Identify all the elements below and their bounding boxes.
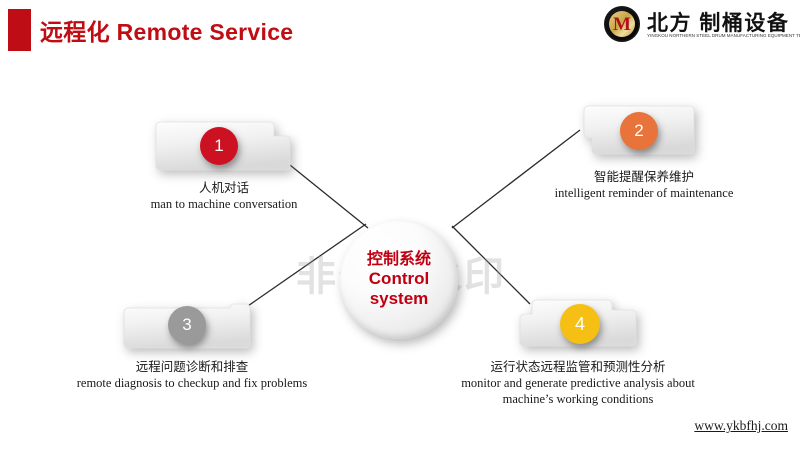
node-3-label-en: remote diagnosis to checkup and fix prob… bbox=[52, 376, 332, 392]
logo-emblem-icon: M bbox=[604, 6, 640, 42]
node-2-number: 2 bbox=[634, 121, 643, 141]
node-1-label-cn: 人机对话 bbox=[124, 181, 324, 197]
node-2-label: 智能提醒保养维护 intelligent reminder of mainten… bbox=[534, 170, 754, 202]
diagram-node-2[interactable]: 2 智能提醒保养维护 intelligent reminder of maint… bbox=[582, 104, 704, 160]
node-3-label-cn: 远程问题诊断和排查 bbox=[52, 360, 332, 376]
radial-diagram: 非公页水印 控制系统 Control system bbox=[0, 56, 800, 450]
node-4-label: 运行状态远程监管和预测性分析 monitor and generate pred… bbox=[418, 360, 738, 407]
node-2-label-en: intelligent reminder of maintenance bbox=[534, 186, 754, 202]
website-url-link[interactable]: www.ykbfhj.com bbox=[694, 418, 788, 434]
node-1-label: 人机对话 man to machine conversation bbox=[124, 181, 324, 213]
logo-emblem-ring: M bbox=[609, 11, 635, 37]
page-title: 远程化 Remote Service bbox=[40, 13, 293, 47]
company-logo: M 北方 制桶设备 YINGKOU NORTHERN STEEL DRUM MA… bbox=[600, 4, 796, 46]
center-node-text: 控制系统 Control system bbox=[340, 221, 458, 339]
slide-header: 远程化 Remote Service M 北方 制桶设备 YINGKOU NOR… bbox=[0, 0, 800, 56]
center-title-en-line2: system bbox=[370, 289, 429, 309]
node-3-card: 3 bbox=[122, 300, 254, 354]
node-4-number-badge: 4 bbox=[560, 304, 600, 344]
node-1-number: 1 bbox=[214, 136, 223, 156]
node-1-label-en: man to machine conversation bbox=[124, 197, 324, 213]
center-node-control-system[interactable]: 控制系统 Control system bbox=[340, 221, 460, 341]
diagram-node-3[interactable]: 3 远程问题诊断和排查 remote diagnosis to checkup … bbox=[122, 300, 254, 354]
center-title-cn: 控制系统 bbox=[367, 251, 431, 270]
diagram-node-4[interactable]: 4 运行状态远程监管和预测性分析 monitor and generate pr… bbox=[512, 296, 644, 354]
center-title-en-line1: Control bbox=[369, 269, 429, 289]
node-4-number: 4 bbox=[575, 314, 585, 335]
node-4-card: 4 bbox=[512, 296, 644, 354]
node-1-number-badge: 1 bbox=[200, 127, 238, 165]
node-2-card: 2 bbox=[582, 104, 704, 160]
node-1-card: 1 bbox=[152, 118, 294, 176]
node-4-label-en-line2: machine’s working conditions bbox=[418, 392, 738, 408]
logo-company-name-en: YINGKOU NORTHERN STEEL DRUM MANUFACTURIN… bbox=[647, 33, 800, 38]
node-4-label-en-line1: monitor and generate predictive analysis… bbox=[418, 376, 738, 392]
header-accent-bar bbox=[8, 9, 31, 51]
slide-canvas: 远程化 Remote Service M 北方 制桶设备 YINGKOU NOR… bbox=[0, 0, 800, 450]
node-4-label-cn: 运行状态远程监管和预测性分析 bbox=[418, 360, 738, 376]
diagram-node-1[interactable]: 1 人机对话 man to machine conversation bbox=[152, 118, 294, 176]
node-3-label: 远程问题诊断和排查 remote diagnosis to checkup an… bbox=[52, 360, 332, 392]
node-2-label-cn: 智能提醒保养维护 bbox=[534, 170, 754, 186]
node-3-number-badge: 3 bbox=[168, 306, 206, 344]
logo-emblem-letter: M bbox=[613, 15, 631, 34]
node-3-number: 3 bbox=[182, 315, 191, 335]
node-2-number-badge: 2 bbox=[620, 112, 658, 150]
connector-line-4 bbox=[452, 226, 530, 304]
